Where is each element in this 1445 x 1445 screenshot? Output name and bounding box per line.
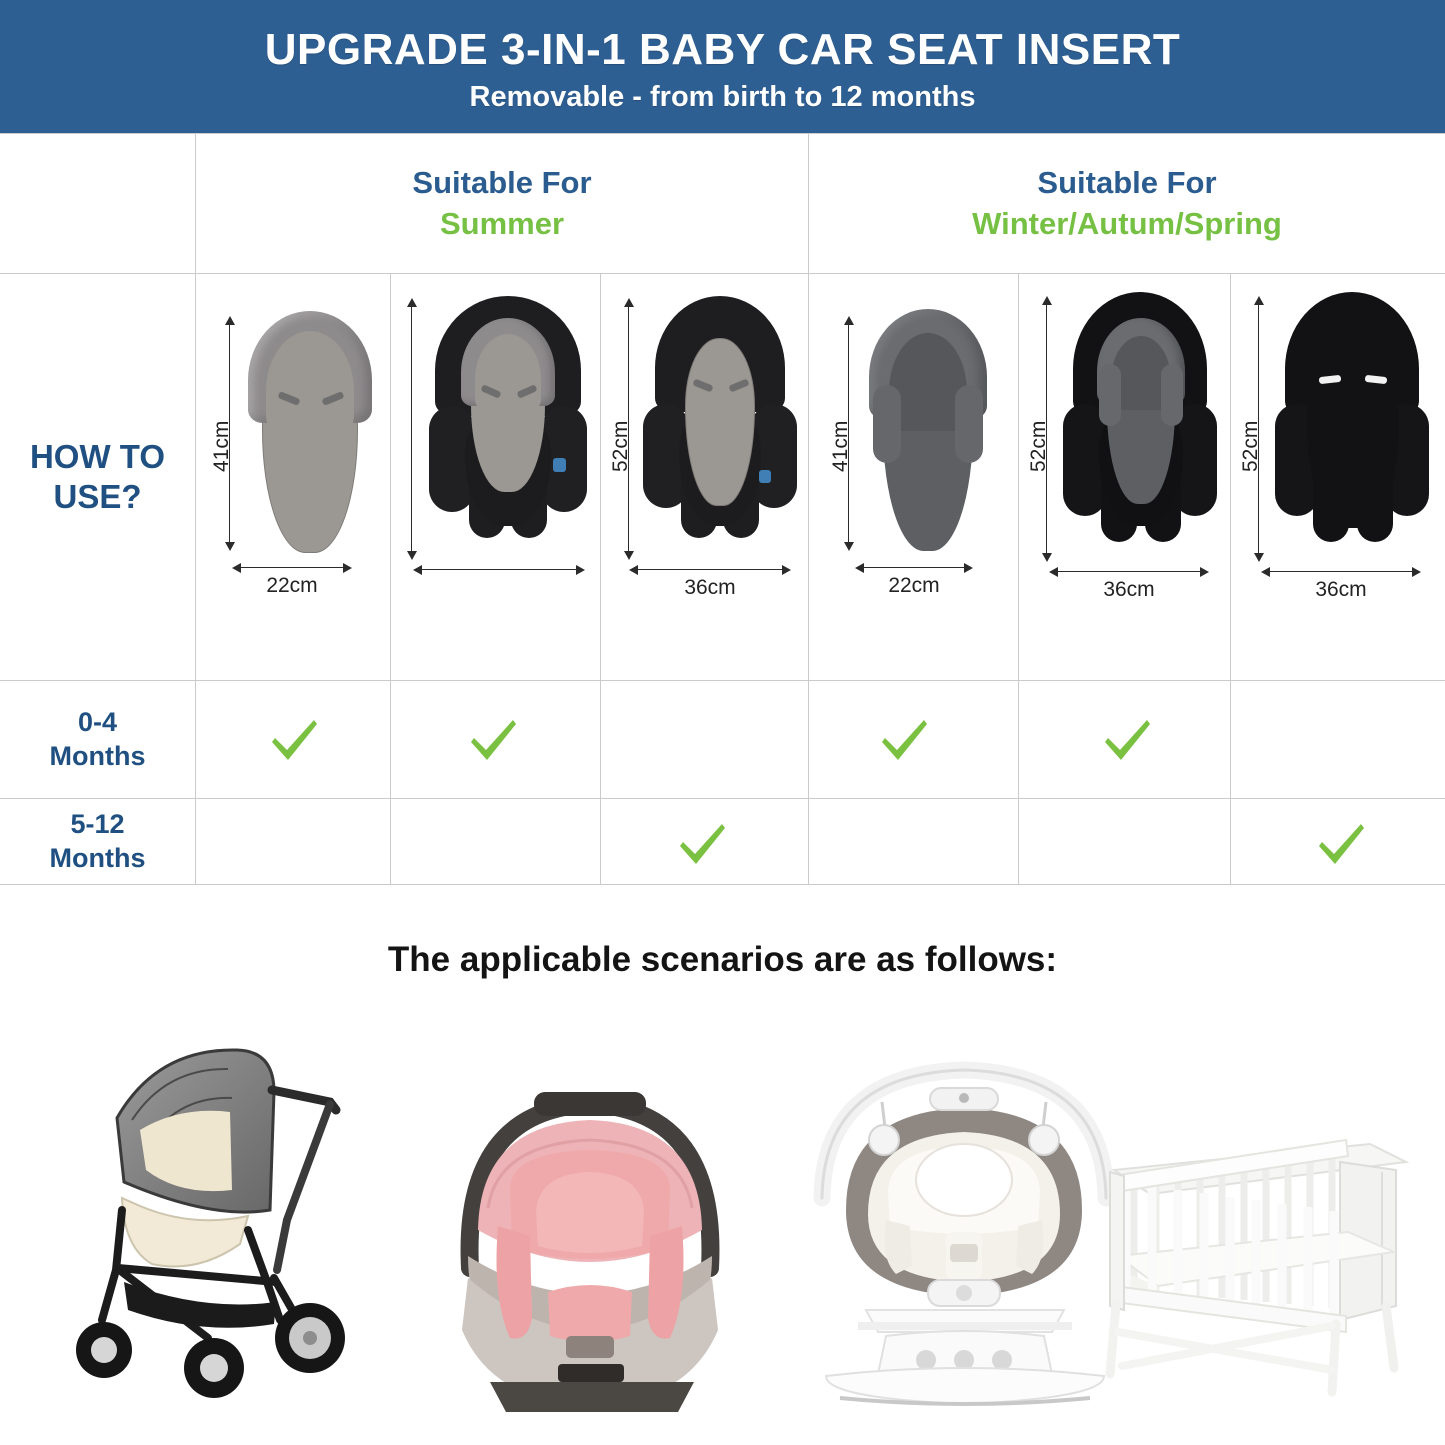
checkmark-row0-col1 [464, 711, 520, 767]
dimension-height-label: 52cm [1239, 392, 1263, 472]
scenario-image-baby-swing [800, 1030, 1130, 1420]
product-cell-4: 41cm 22cm [809, 274, 1018, 680]
grid-line-h [0, 680, 1445, 681]
scenario-image-crib [1096, 1120, 1436, 1420]
scenario-image-stroller [62, 1020, 402, 1420]
product-cell-6: 52cm 36cm [1231, 274, 1445, 680]
product-image [867, 309, 989, 557]
season-header-winter: Suitable For Winter/Autum/Spring [809, 134, 1445, 273]
checkmark-row0-col0 [265, 711, 321, 767]
age-label-line2: Months [50, 740, 146, 774]
age-label-line2: Months [50, 842, 146, 876]
dimension-width-label: 22cm [232, 574, 352, 598]
product-cell-5: 52cm 36cm [1019, 274, 1230, 680]
product-cell-3: 52cm 36cm [601, 274, 808, 680]
age-label-line1: 5-12 [70, 808, 124, 842]
checkmark-row0-col4 [1098, 711, 1154, 767]
dimension-arrow-horizontal [1261, 566, 1421, 577]
age-row-label-0-4: 0-4 Months [0, 681, 195, 798]
header-banner: UPGRADE 3-IN-1 BABY CAR SEAT INSERT Remo… [0, 0, 1445, 133]
product-image [425, 294, 591, 560]
dimension-arrow-horizontal [413, 564, 585, 575]
product-image [641, 294, 801, 560]
season-header-label: Suitable For [1037, 166, 1216, 201]
dimension-width-label: 22cm [855, 574, 973, 598]
age-row-label-5-12: 5-12 Months [0, 799, 195, 884]
comparison-table: Suitable For Summer Suitable For Winter/… [0, 133, 1445, 885]
dimension-arrow-horizontal [629, 564, 791, 575]
product-image [1273, 292, 1435, 562]
page-subtitle: Removable - from birth to 12 months [470, 82, 976, 112]
product-cell-2 [391, 274, 600, 680]
season-header-value: Summer [440, 207, 564, 242]
product-image [244, 309, 374, 559]
dimension-arrow-horizontal [232, 562, 352, 573]
how-to-use-label: HOW TO USE? [0, 274, 195, 680]
dimension-width-label: 36cm [1261, 578, 1421, 602]
scenarios-title: The applicable scenarios are as follows: [0, 940, 1445, 980]
grid-line-h [0, 884, 1445, 885]
dimension-width-label: 36cm [629, 576, 791, 600]
product-cell-1: 41cm 22cm [196, 274, 390, 680]
dimension-arrow-horizontal [1049, 566, 1209, 577]
dimension-height-label: 41cm [829, 392, 853, 472]
season-header-value: Winter/Autum/Spring [972, 207, 1282, 242]
season-header-summer: Suitable For Summer [196, 134, 808, 273]
page-title: UPGRADE 3-IN-1 BABY CAR SEAT INSERT [265, 27, 1181, 73]
product-image [1061, 292, 1223, 562]
season-header-label: Suitable For [412, 166, 591, 201]
checkmark-row1-col5 [1312, 815, 1368, 871]
dimension-height-label: 52cm [1027, 392, 1051, 472]
checkmark-row1-col2 [673, 815, 729, 871]
checkmark-row0-col3 [875, 711, 931, 767]
age-label-line1: 0-4 [78, 706, 117, 740]
dimension-height-label: 52cm [609, 392, 633, 472]
dimension-arrow-horizontal [855, 562, 973, 573]
dimension-arrow-vertical [406, 298, 417, 560]
dimension-width-label: 36cm [1049, 578, 1209, 602]
infographic-page: UPGRADE 3-IN-1 BABY CAR SEAT INSERT Remo… [0, 0, 1445, 1445]
scenario-image-infant-car-seat [432, 1030, 750, 1420]
dimension-height-label: 41cm [210, 392, 234, 472]
grid-line-h [0, 798, 1445, 799]
how-to-use-line1: HOW TO USE? [0, 437, 195, 518]
